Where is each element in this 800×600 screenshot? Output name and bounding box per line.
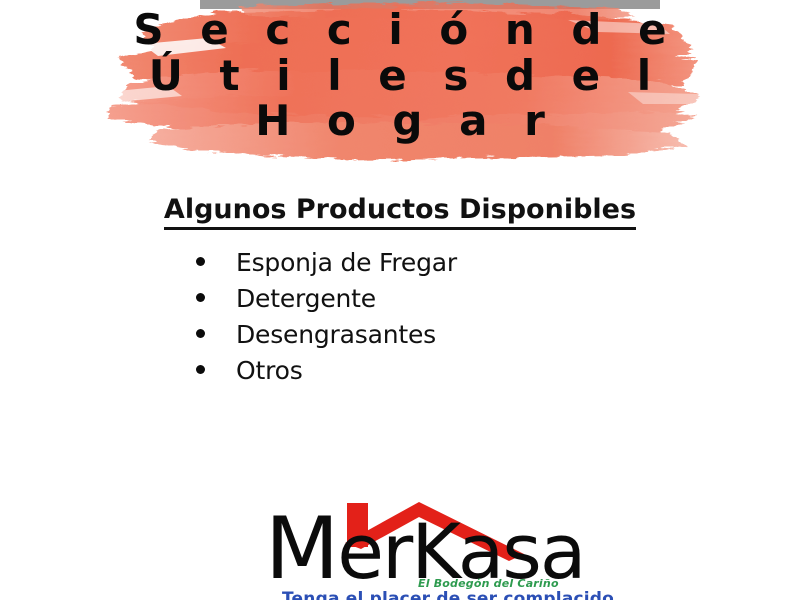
list-item: Otros — [196, 356, 457, 392]
product-label: Otros — [236, 356, 303, 385]
bullet-dot-icon — [196, 293, 205, 302]
product-label: Desengrasantes — [236, 320, 436, 349]
product-label: Esponja de Fregar — [236, 248, 457, 277]
subtitle-text: Algunos Productos Disponibles — [164, 194, 636, 230]
bullet-dot-icon — [196, 257, 205, 266]
bullet-dot-icon — [196, 365, 205, 374]
list-item: Desengrasantes — [196, 320, 457, 356]
logo-tagline-blue: Tenga el placer de ser complacido — [282, 589, 614, 600]
product-list: Esponja de Fregar Detergente Desengrasan… — [196, 248, 457, 392]
product-label: Detergente — [236, 284, 376, 313]
list-item: Esponja de Fregar — [196, 248, 457, 284]
logo-cap-letter: M — [265, 499, 337, 599]
brush-stroke-banner — [98, 0, 708, 172]
slide-canvas: S e c c i ó n d e Ú t i l e s d e l H o … — [0, 0, 800, 600]
subtitle-heading: Algunos Productos Disponibles — [0, 194, 800, 225]
list-item: Detergente — [196, 284, 457, 320]
bullet-dot-icon — [196, 329, 205, 338]
merkasa-logo: MerKasa El Bodegón del Cariño Tenga el p… — [265, 498, 565, 600]
